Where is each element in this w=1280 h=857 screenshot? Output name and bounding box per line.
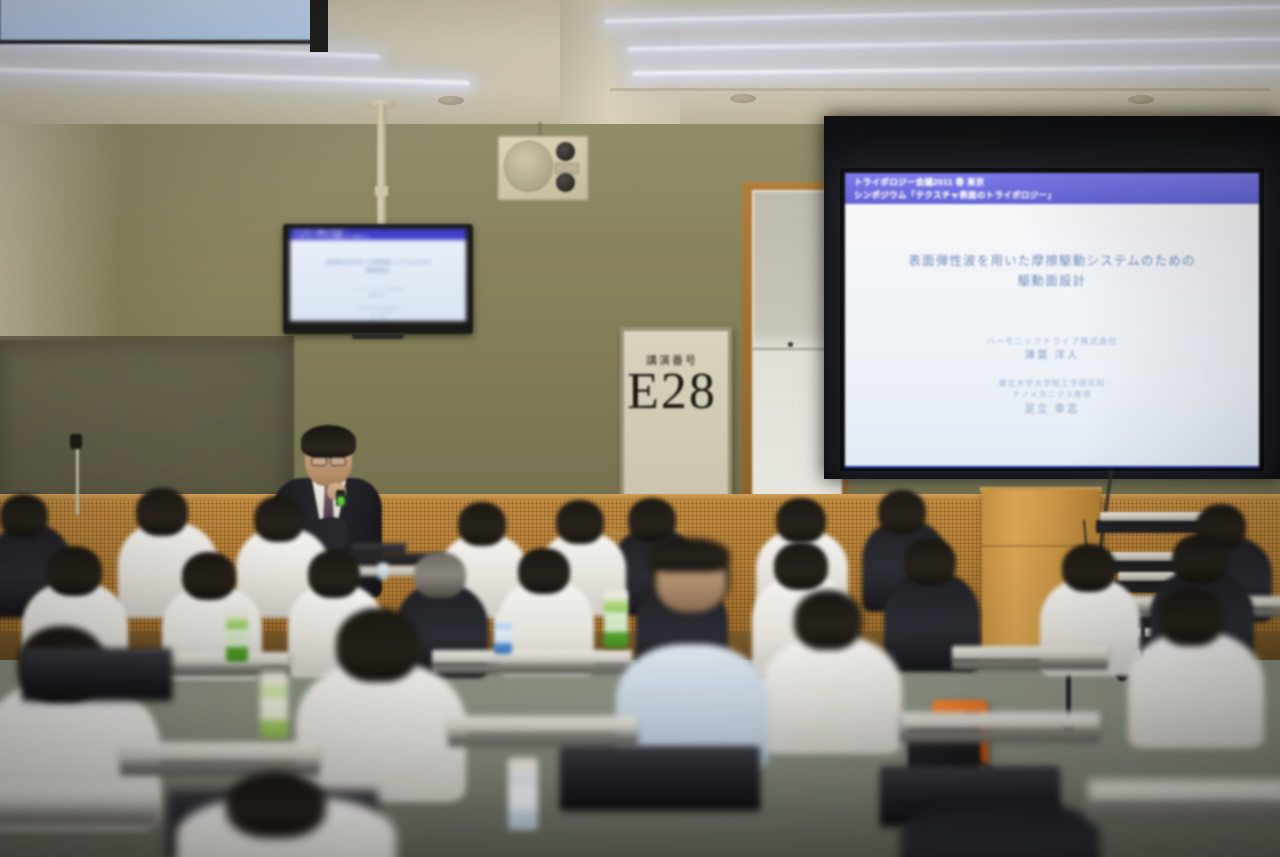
- desk-edge: [1088, 804, 1280, 821]
- presenter-remote-led: [338, 497, 344, 505]
- desk: [432, 650, 632, 664]
- slide-title: 表面弾性波を用いた摩擦駆動システムのための 駆動面設計: [845, 251, 1259, 291]
- monitor-presenter-2: 足立 幸志: [290, 315, 466, 321]
- slide-affiliation-2: 東北大学大学院工学研究科: [845, 378, 1259, 389]
- green-tea-bottle: [260, 672, 288, 738]
- monitor-title: 表面弾性波を用いた摩擦駆動システムのための 駆動面設計: [290, 259, 466, 275]
- desk-edge: [952, 660, 1108, 670]
- lecture-hall-photo: 足立 幸志 トライボロジー会議2011 春 東京 シンポジウム「テクスチャ表面の…: [0, 0, 1280, 857]
- monitor-title-line2: 駆動面設計: [290, 267, 466, 275]
- desk: [900, 712, 1100, 730]
- microphone-stand: [76, 443, 79, 515]
- desk: [120, 742, 320, 762]
- speaker-cone-icon: [504, 141, 553, 192]
- chair[interactable]: [22, 648, 172, 700]
- clear-bottle: [378, 563, 388, 580]
- water-bottle: [494, 614, 512, 654]
- monitor-title-line1: 表面弾性波を用いた摩擦駆動システムのための: [290, 259, 466, 267]
- ceiling-rail: [610, 88, 1270, 91]
- projector-mount-joint: [375, 186, 388, 196]
- corner-monitor: 足立 幸志: [0, 0, 320, 44]
- whiteboard-knob[interactable]: [788, 342, 793, 347]
- corner-monitor-bezel: [310, 0, 328, 52]
- desk-edge: [432, 664, 632, 674]
- monitor-presenter-1: 薄葉 洋人: [290, 293, 466, 299]
- slide-presenter-1: 薄葉 洋人: [845, 347, 1259, 362]
- monitor-banner-line2: シンポジウム「テクスチャ表面のトライボロジー」: [293, 235, 466, 240]
- slide-banner: トライボロジー会議2011 春 東京 シンポジウム「テクスチャ表面のトライボロジ…: [845, 173, 1259, 204]
- monitor-stand: [352, 334, 404, 339]
- desk-edge: [0, 810, 160, 828]
- ceiling-vent: [438, 96, 464, 105]
- wall-light-falloff: [0, 124, 120, 354]
- eyeglasses-icon: [330, 457, 346, 466]
- clear-bottle: [508, 758, 538, 830]
- slide-title-line2: 駆動面設計: [845, 271, 1259, 291]
- projector-mount-pole: [377, 104, 386, 232]
- session-sign-number: E28: [620, 366, 724, 418]
- slide-affiliation-1: ハーモニックドライブ株式会社: [845, 335, 1259, 347]
- desk: [1088, 780, 1280, 804]
- speaker-tweeter-icon: [556, 173, 575, 192]
- microphone-icon: [70, 434, 82, 449]
- confidence-monitor-screen: トライボロジー会議2011 春 東京 シンポジウム「テクスチャ表面のトライボロジ…: [290, 229, 466, 321]
- desk: [952, 646, 1108, 660]
- laptop: [351, 543, 407, 555]
- desk: [0, 784, 160, 810]
- slide-banner-line2: シンポジウム「テクスチャ表面のトライボロジー」: [854, 189, 1259, 202]
- green-tea-bottle: [604, 590, 628, 648]
- monitor-affiliation-1: ハーモニックドライブ株式会社: [290, 287, 466, 292]
- monitor-banner: トライボロジー会議2011 春 東京 シンポジウム「テクスチャ表面のトライボロジ…: [290, 229, 466, 240]
- eyeglasses-icon: [311, 457, 327, 466]
- speaker-tweeter-icon: [556, 142, 575, 161]
- green-tea-bottle: [226, 608, 248, 662]
- ceiling-vent: [730, 94, 756, 103]
- chair[interactable]: [560, 746, 760, 810]
- desk: [448, 716, 638, 734]
- ceiling-vent: [1128, 95, 1154, 104]
- projection-slide: トライボロジー会議2011 春 東京 シンポジウム「テクスチャ表面のトライボロジ…: [845, 173, 1259, 468]
- slide-presenter-2: 足立 幸志: [845, 401, 1259, 416]
- desk-edge: [900, 730, 1100, 743]
- slide-banner-line1: トライボロジー会議2011 春 東京: [854, 176, 1259, 189]
- slide-affiliation-3: ナノメカニクス専攻: [845, 389, 1259, 400]
- slide-title-line1: 表面弾性波を用いた摩擦駆動システムのための: [845, 251, 1259, 271]
